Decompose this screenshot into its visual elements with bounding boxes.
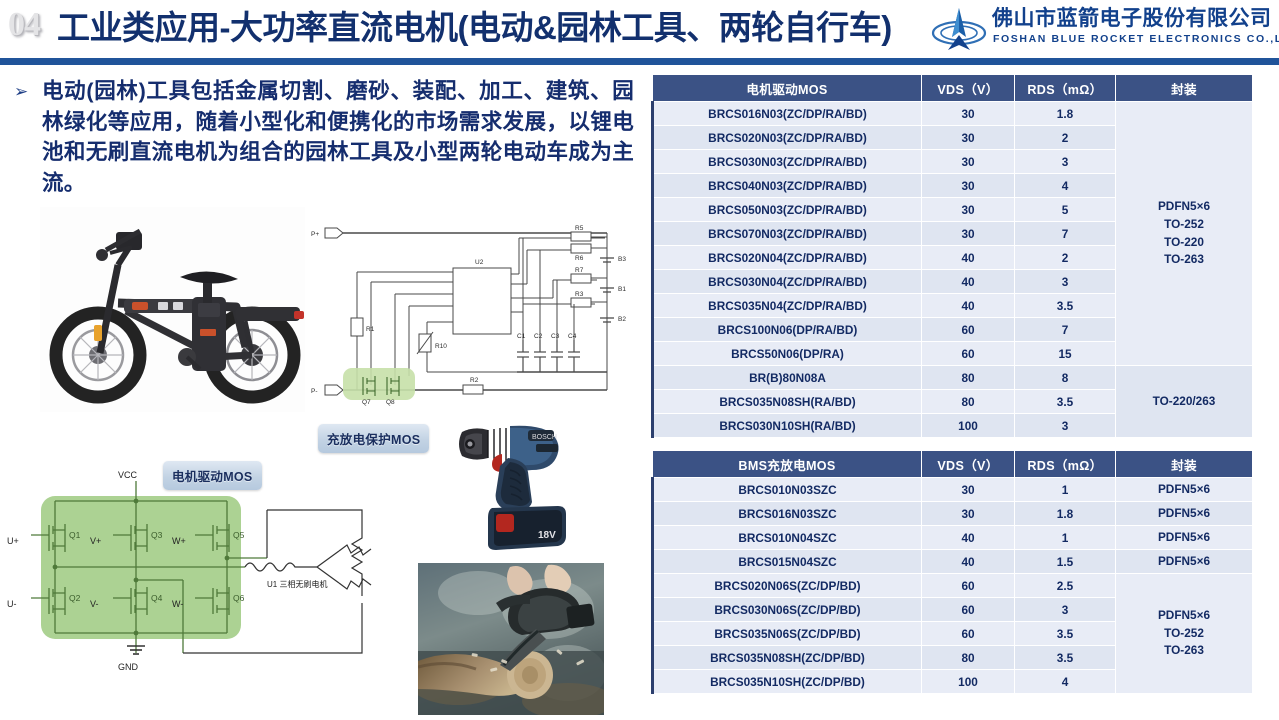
cell-vds: 40 [922, 550, 1015, 574]
cell-package: TO-220/263 [1116, 366, 1253, 438]
section-number: 04 [8, 8, 40, 42]
blue-rocket-arrow-icon [930, 7, 988, 53]
cell-vds: 40 [922, 526, 1015, 550]
slide-header: 04 工业类应用-大功率直流电机(电动&园林工具、两轮自行车) 佛山市蓝箭电子股… [0, 0, 1279, 66]
cell-part-number: BRCS010N04SZC [653, 526, 922, 550]
cell-package: PDFN5×6 [1116, 478, 1253, 502]
svg-text:U2: U2 [475, 259, 484, 266]
cell-vds: 30 [922, 102, 1015, 126]
cell-part-number: BRCS100N06(DP/RA/BD) [653, 318, 922, 342]
cell-vds: 100 [922, 670, 1015, 694]
cordless-drill-photo: BOSCH 18V [440, 408, 590, 560]
cell-vds: 30 [922, 150, 1015, 174]
svg-text:P+: P+ [311, 231, 319, 238]
cell-part-number: BRCS070N03(ZC/DP/RA/BD) [653, 222, 922, 246]
cell-part-number: BRCS020N06S(ZC/DP/BD) [653, 574, 922, 598]
company-logo: 佛山市蓝箭电子股份有限公司 FOSHAN BLUE ROCKET ELECTRO… [930, 5, 1270, 55]
cell-rds: 1 [1015, 478, 1116, 502]
cell-package: PDFN5×6 [1116, 550, 1253, 574]
cell-vds: 80 [922, 646, 1015, 670]
cell-part-number: BRCS050N03(ZC/DP/RA/BD) [653, 198, 922, 222]
svg-text:U1 三相无刷电机: U1 三相无刷电机 [267, 579, 327, 589]
svg-text:18V: 18V [538, 530, 556, 541]
cell-part-number: BRCS016N03SZC [653, 502, 922, 526]
svg-text:R1: R1 [366, 326, 375, 333]
table-row: BRCS020N06S(ZC/DP/BD)602.5PDFN5×6TO-252T… [653, 574, 1253, 598]
table-row: BRCS010N03SZC301PDFN5×6 [653, 478, 1253, 502]
svg-text:W+: W+ [172, 536, 186, 546]
bms-charge-discharge-mos-table: BMS充放电MOS VDS（V） RDS（mΩ） 封装 BRCS010N03SZ… [651, 450, 1253, 694]
callout-motor-drive-mos: 电机驱动MOS [163, 461, 262, 490]
cell-vds: 80 [922, 366, 1015, 390]
cell-part-number: BRCS50N06(DP/RA) [653, 342, 922, 366]
col-header-vds: VDS（V） [922, 451, 1015, 478]
cell-package: PDFN5×6 [1116, 526, 1253, 550]
cell-rds: 1.8 [1015, 102, 1116, 126]
cell-rds: 8 [1015, 366, 1116, 390]
svg-text:R10: R10 [435, 343, 447, 350]
svg-text:C2: C2 [534, 333, 543, 340]
col-header-pkg: 封装 [1116, 75, 1253, 102]
cell-rds: 4 [1015, 174, 1116, 198]
company-name-en: FOSHAN BLUE ROCKET ELECTRONICS CO.,LTD. [993, 33, 1279, 45]
cell-rds: 7 [1015, 318, 1116, 342]
cell-part-number: BRCS020N04(ZC/DP/RA/BD) [653, 246, 922, 270]
table-header-row: BMS充放电MOS VDS（V） RDS（mΩ） 封装 [653, 451, 1253, 478]
cell-part-number: BRCS035N08SH(ZC/DP/BD) [653, 646, 922, 670]
table-row: BRCS010N04SZC401PDFN5×6 [653, 526, 1253, 550]
cell-vds: 60 [922, 574, 1015, 598]
col-header-pkg: 封装 [1116, 451, 1253, 478]
cell-part-number: BRCS016N03(ZC/DP/RA/BD) [653, 102, 922, 126]
cell-package: PDFN5×6TO-252TO-220TO-263 [1116, 102, 1253, 366]
cell-rds: 7 [1015, 222, 1116, 246]
svg-text:B3: B3 [618, 256, 626, 263]
header-divider-bar [0, 58, 1279, 65]
cell-rds: 1.5 [1015, 550, 1116, 574]
svg-text:Q4: Q4 [151, 593, 163, 603]
cell-part-number: BRCS020N03(ZC/DP/RA/BD) [653, 126, 922, 150]
cell-part-number: BR(B)80N08A [653, 366, 922, 390]
svg-text:Q1: Q1 [69, 530, 81, 540]
svg-text:Q7: Q7 [362, 399, 371, 406]
bullet-paragraph: 电动(园林)工具包括金属切割、磨砂、装配、加工、建筑、园林绿化等应用，随着小型化… [42, 76, 634, 198]
svg-text:Q5: Q5 [233, 530, 245, 540]
cell-vds: 30 [922, 126, 1015, 150]
cell-vds: 40 [922, 294, 1015, 318]
cell-rds: 1 [1015, 526, 1116, 550]
cell-rds: 3 [1015, 598, 1116, 622]
cell-rds: 4 [1015, 670, 1116, 694]
svg-text:R2: R2 [470, 377, 479, 384]
cell-vds: 40 [922, 246, 1015, 270]
cell-part-number: BRCS010N03SZC [653, 478, 922, 502]
cell-part-number: BRCS030N04(ZC/DP/RA/BD) [653, 270, 922, 294]
cell-rds: 3 [1015, 414, 1116, 438]
svg-text:B2: B2 [618, 316, 626, 323]
table-row: BRCS015N04SZC401.5PDFN5×6 [653, 550, 1253, 574]
svg-text:U+: U+ [7, 536, 19, 546]
bullet-arrow-icon: ➢ [14, 83, 32, 103]
svg-text:W-: W- [172, 599, 183, 609]
svg-text:GND: GND [118, 662, 139, 672]
col-header-rds: RDS（mΩ） [1015, 75, 1116, 102]
cell-vds: 30 [922, 174, 1015, 198]
cell-part-number: BRCS035N10SH(ZC/DP/BD) [653, 670, 922, 694]
svg-text:C1: C1 [517, 333, 526, 340]
chainsaw-cutting-log-photo [418, 563, 604, 715]
bldc-three-phase-bridge-diagram: VCC GND U+ U- V+ V- W+ W- Q1Q3Q5 Q2Q4Q6 … [5, 470, 395, 675]
ebike-photo [40, 207, 315, 412]
cell-vds: 30 [922, 222, 1015, 246]
page-title: 工业类应用-大功率直流电机(电动&园林工具、两轮自行车) [57, 7, 892, 48]
table-header-row: 电机驱动MOS VDS（V） RDS（mΩ） 封装 [653, 75, 1253, 102]
svg-text:R3: R3 [575, 291, 584, 298]
bms-protection-circuit-diagram: P+ P- U2 R1 R10 R2 R5 R6 R7 R3 B3 B1 B2 … [305, 200, 645, 430]
cell-vds: 40 [922, 270, 1015, 294]
company-name-cn: 佛山市蓝箭电子股份有限公司 [992, 7, 1272, 30]
cell-part-number: BRCS035N06S(ZC/DP/BD) [653, 622, 922, 646]
table-row: BR(B)80N08A808TO-220/263 [653, 366, 1253, 390]
svg-text:BOSCH: BOSCH [532, 434, 557, 441]
cell-rds: 2 [1015, 126, 1116, 150]
table-row: BRCS016N03SZC301.8PDFN5×6 [653, 502, 1253, 526]
cell-vds: 60 [922, 622, 1015, 646]
cell-vds: 80 [922, 390, 1015, 414]
bullet-block: ➢ 电动(园林)工具包括金属切割、磨砂、装配、加工、建筑、园林绿化等应用，随着小… [14, 76, 634, 198]
cell-vds: 30 [922, 198, 1015, 222]
cell-vds: 60 [922, 342, 1015, 366]
cell-rds: 2.5 [1015, 574, 1116, 598]
cell-rds: 5 [1015, 198, 1116, 222]
svg-text:V-: V- [90, 599, 99, 609]
cell-rds: 3 [1015, 150, 1116, 174]
cell-rds: 3.5 [1015, 646, 1116, 670]
svg-text:C4: C4 [568, 333, 577, 340]
cell-part-number: BRCS030N03(ZC/DP/RA/BD) [653, 150, 922, 174]
cell-package: PDFN5×6TO-252TO-263 [1116, 574, 1253, 694]
svg-text:B1: B1 [618, 286, 626, 293]
svg-text:Q2: Q2 [69, 593, 81, 603]
svg-text:Q6: Q6 [233, 593, 245, 603]
callout-charge-discharge-protect-mos: 充放电保护MOS [318, 424, 429, 453]
svg-text:Q3: Q3 [151, 530, 163, 540]
table-row: BRCS016N03(ZC/DP/RA/BD)301.8PDFN5×6TO-25… [653, 102, 1253, 126]
svg-text:C3: C3 [551, 333, 560, 340]
svg-text:R6: R6 [575, 255, 584, 262]
cell-vds: 100 [922, 414, 1015, 438]
cell-vds: 30 [922, 502, 1015, 526]
cell-part-number: BRCS035N08SH(RA/BD) [653, 390, 922, 414]
cell-rds: 1.8 [1015, 502, 1116, 526]
cell-vds: 60 [922, 598, 1015, 622]
cell-rds: 2 [1015, 246, 1116, 270]
cell-part-number: BRCS030N06S(ZC/DP/BD) [653, 598, 922, 622]
svg-text:VCC: VCC [118, 470, 138, 480]
motor-drive-mos-table: 电机驱动MOS VDS（V） RDS（mΩ） 封装 BRCS016N03(ZC/… [651, 74, 1253, 438]
col-header-name: BMS充放电MOS [653, 451, 922, 478]
svg-text:R5: R5 [575, 225, 584, 232]
cell-rds: 3.5 [1015, 390, 1116, 414]
cell-part-number: BRCS040N03(ZC/DP/RA/BD) [653, 174, 922, 198]
svg-text:V+: V+ [90, 536, 101, 546]
cell-vds: 60 [922, 318, 1015, 342]
cell-part-number: BRCS015N04SZC [653, 550, 922, 574]
cell-part-number: BRCS030N10SH(RA/BD) [653, 414, 922, 438]
col-header-rds: RDS（mΩ） [1015, 451, 1116, 478]
svg-text:Q8: Q8 [386, 399, 395, 406]
svg-text:P-: P- [311, 388, 318, 395]
cell-rds: 15 [1015, 342, 1116, 366]
cell-package: PDFN5×6 [1116, 502, 1253, 526]
col-header-name: 电机驱动MOS [653, 75, 922, 102]
svg-text:R7: R7 [575, 267, 584, 274]
cell-rds: 3.5 [1015, 294, 1116, 318]
cell-rds: 3.5 [1015, 622, 1116, 646]
col-header-vds: VDS（V） [922, 75, 1015, 102]
cell-vds: 30 [922, 478, 1015, 502]
svg-text:U-: U- [7, 599, 17, 609]
cell-rds: 3 [1015, 270, 1116, 294]
cell-part-number: BRCS035N04(ZC/DP/RA/BD) [653, 294, 922, 318]
